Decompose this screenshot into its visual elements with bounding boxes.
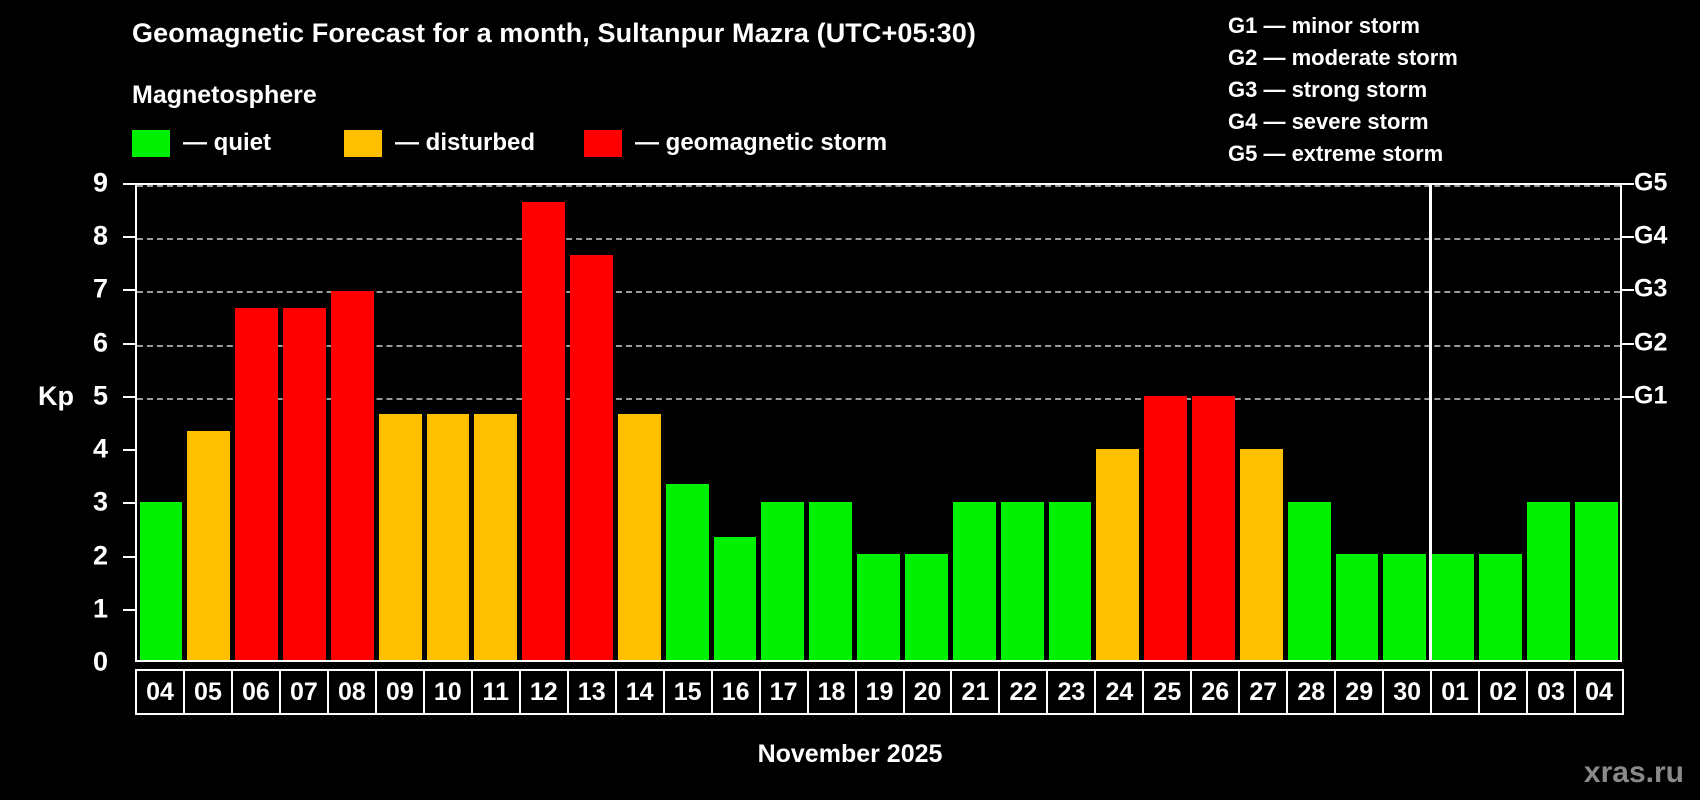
g-axis-tick-mark xyxy=(1622,183,1634,185)
g-axis-tick-label: G2 xyxy=(1634,328,1667,357)
date-cell[interactable]: 02 xyxy=(1478,669,1528,715)
g-axis-tick-mark xyxy=(1622,343,1634,345)
date-cell[interactable]: 04 xyxy=(135,669,185,715)
y-axis-tick-label: 1 xyxy=(48,593,108,624)
bar-cell[interactable] xyxy=(950,185,998,660)
date-cell[interactable]: 14 xyxy=(615,669,665,715)
date-cell[interactable]: 18 xyxy=(807,669,857,715)
bar-cell[interactable] xyxy=(1285,185,1333,660)
bar-cell[interactable] xyxy=(1524,185,1572,660)
g-axis-tick-label: G3 xyxy=(1634,275,1667,304)
g-axis-tick-mark xyxy=(1622,236,1634,238)
bar-cell[interactable] xyxy=(1237,185,1285,660)
legend-label: — geomagnetic storm xyxy=(635,129,887,157)
g-axis-tick-mark xyxy=(1622,396,1634,398)
kp-bar[interactable] xyxy=(1527,502,1570,660)
kp-bar[interactable] xyxy=(235,308,278,660)
g-scale-row: G3 — strong storm xyxy=(1228,74,1458,106)
kp-bar[interactable] xyxy=(1479,554,1522,660)
date-cell[interactable]: 08 xyxy=(327,669,377,715)
bar-cell[interactable] xyxy=(424,185,472,660)
bar-cell[interactable] xyxy=(711,185,759,660)
g-axis-tick-label: G5 xyxy=(1634,169,1667,198)
y-axis-tick-label: 5 xyxy=(48,380,108,411)
kp-bar[interactable] xyxy=(379,414,422,660)
date-cell[interactable]: 12 xyxy=(519,669,569,715)
bar-cell[interactable] xyxy=(759,185,807,660)
bar-cell[interactable] xyxy=(1477,185,1525,660)
bar-cell[interactable] xyxy=(663,185,711,660)
bar-cell[interactable] xyxy=(855,185,903,660)
x-axis-title: November 2025 xyxy=(0,740,1700,769)
date-cell[interactable]: 01 xyxy=(1430,669,1480,715)
g-scale-legend: G1 — minor stormG2 — moderate stormG3 — … xyxy=(1228,10,1458,170)
date-cell[interactable]: 26 xyxy=(1190,669,1240,715)
date-cell[interactable]: 23 xyxy=(1046,669,1096,715)
date-cell[interactable]: 24 xyxy=(1094,669,1144,715)
bar-cell[interactable] xyxy=(1333,185,1381,660)
date-cell[interactable]: 10 xyxy=(423,669,473,715)
date-cell[interactable]: 30 xyxy=(1382,669,1432,715)
date-cell[interactable]: 21 xyxy=(950,669,1000,715)
bar-cell[interactable] xyxy=(903,185,951,660)
bar-cell[interactable] xyxy=(1046,185,1094,660)
y-axis-tick-mark xyxy=(123,236,135,238)
date-cell[interactable]: 19 xyxy=(855,669,905,715)
y-axis-tick-label: 8 xyxy=(48,221,108,252)
watermark: xras.ru xyxy=(1584,756,1684,790)
page-title: Geomagnetic Forecast for a month, Sultan… xyxy=(132,18,976,49)
bar-cell[interactable] xyxy=(1142,185,1190,660)
month-divider xyxy=(1429,185,1432,660)
date-cell[interactable]: 20 xyxy=(903,669,953,715)
kp-bar[interactable] xyxy=(714,537,757,660)
bar-cell[interactable] xyxy=(1094,185,1142,660)
kp-bar[interactable] xyxy=(953,502,996,660)
kp-bar[interactable] xyxy=(427,414,470,660)
kp-bar[interactable] xyxy=(1431,554,1474,660)
bar-cell[interactable] xyxy=(1429,185,1477,660)
g-axis-tick-mark xyxy=(1622,289,1634,291)
legend-item: — geomagnetic storm xyxy=(584,129,887,157)
date-cell[interactable]: 03 xyxy=(1526,669,1576,715)
y-axis-tick-mark xyxy=(123,289,135,291)
legend-label: — disturbed xyxy=(395,129,535,157)
kp-bar[interactable] xyxy=(905,554,948,660)
kp-bar[interactable] xyxy=(1288,502,1331,660)
kp-bar[interactable] xyxy=(187,431,230,660)
date-cell[interactable]: 17 xyxy=(759,669,809,715)
chart-canvas: Geomagnetic Forecast for a month, Sultan… xyxy=(0,0,1700,800)
kp-bar[interactable] xyxy=(857,554,900,660)
y-axis-tick-mark xyxy=(123,609,135,611)
kp-bar[interactable] xyxy=(1192,396,1235,660)
kp-bar[interactable] xyxy=(140,502,183,660)
y-axis-tick-mark xyxy=(123,343,135,345)
kp-bar[interactable] xyxy=(1049,502,1092,660)
y-axis-tick-label: 2 xyxy=(48,540,108,571)
x-axis-date-row: 0405060708091011121314151617181920212223… xyxy=(135,669,1622,715)
kp-bar[interactable] xyxy=(618,414,661,660)
y-axis-tick-label: 7 xyxy=(48,274,108,305)
bar-cell[interactable] xyxy=(185,185,233,660)
kp-bar[interactable] xyxy=(331,291,374,660)
date-cell[interactable]: 29 xyxy=(1334,669,1384,715)
date-cell[interactable]: 09 xyxy=(375,669,425,715)
date-cell[interactable]: 06 xyxy=(231,669,281,715)
kp-bar[interactable] xyxy=(761,502,804,660)
y-axis-tick-mark xyxy=(123,502,135,504)
date-cell[interactable]: 11 xyxy=(471,669,521,715)
legend-swatch-icon xyxy=(584,130,622,157)
bar-series xyxy=(137,185,1620,660)
bar-cell[interactable] xyxy=(233,185,281,660)
g-axis-tick-label: G4 xyxy=(1634,222,1667,251)
y-axis-tick-mark xyxy=(123,183,135,185)
kp-bar[interactable] xyxy=(666,484,709,660)
kp-bar[interactable] xyxy=(522,202,565,660)
legend-label: — quiet xyxy=(183,129,271,157)
bar-cell[interactable] xyxy=(998,185,1046,660)
g-scale-row: G2 — moderate storm xyxy=(1228,42,1458,74)
y-axis-tick-label: 3 xyxy=(48,487,108,518)
g-scale-row: G4 — severe storm xyxy=(1228,106,1458,138)
date-cell[interactable]: 28 xyxy=(1286,669,1336,715)
bar-cell[interactable] xyxy=(615,185,663,660)
legend-swatch-icon xyxy=(132,130,170,157)
magnetosphere-label: Magnetosphere xyxy=(132,81,317,110)
y-axis-tick-label: 9 xyxy=(48,168,108,199)
legend-item: — disturbed xyxy=(344,129,535,157)
y-axis-tick-label: 6 xyxy=(48,327,108,358)
g-axis-tick-label: G1 xyxy=(1634,381,1667,410)
bar-cell[interactable] xyxy=(1190,185,1238,660)
date-cell[interactable]: 25 xyxy=(1142,669,1192,715)
date-cell[interactable]: 13 xyxy=(567,669,617,715)
date-cell[interactable]: 15 xyxy=(663,669,713,715)
legend-swatch-icon xyxy=(344,130,382,157)
kp-bar[interactable] xyxy=(1383,554,1426,660)
bar-cell[interactable] xyxy=(520,185,568,660)
y-axis-tick-label: 0 xyxy=(48,647,108,678)
kp-bar[interactable] xyxy=(1001,502,1044,660)
bar-cell[interactable] xyxy=(137,185,185,660)
kp-bar[interactable] xyxy=(1144,396,1187,660)
kp-bar[interactable] xyxy=(1336,554,1379,660)
g-scale-row: G1 — minor storm xyxy=(1228,10,1458,42)
bar-cell[interactable] xyxy=(1572,185,1620,660)
y-axis-tick-mark xyxy=(123,396,135,398)
kp-bar[interactable] xyxy=(809,502,852,660)
bar-cell[interactable] xyxy=(281,185,329,660)
bar-cell[interactable] xyxy=(1381,185,1429,660)
y-axis-tick-mark xyxy=(123,449,135,451)
bar-cell[interactable] xyxy=(472,185,520,660)
plot-area xyxy=(135,183,1622,662)
kp-bar[interactable] xyxy=(1575,502,1618,660)
kp-bar[interactable] xyxy=(1240,449,1283,660)
kp-bar[interactable] xyxy=(1096,449,1139,660)
date-cell[interactable]: 27 xyxy=(1238,669,1288,715)
g-scale-row: G5 — extreme storm xyxy=(1228,138,1458,170)
y-axis-tick-mark xyxy=(123,556,135,558)
date-cell[interactable]: 16 xyxy=(711,669,761,715)
bar-cell[interactable] xyxy=(376,185,424,660)
kp-bar[interactable] xyxy=(570,255,613,660)
bar-cell[interactable] xyxy=(568,185,616,660)
y-axis-tick-label: 4 xyxy=(48,434,108,465)
date-cell[interactable]: 22 xyxy=(998,669,1048,715)
legend-item: — quiet xyxy=(132,129,271,157)
date-cell[interactable]: 07 xyxy=(279,669,329,715)
kp-bar[interactable] xyxy=(283,308,326,660)
bar-cell[interactable] xyxy=(807,185,855,660)
kp-bar[interactable] xyxy=(474,414,517,660)
date-cell[interactable]: 04 xyxy=(1574,669,1624,715)
bar-cell[interactable] xyxy=(328,185,376,660)
date-cell[interactable]: 05 xyxy=(183,669,233,715)
